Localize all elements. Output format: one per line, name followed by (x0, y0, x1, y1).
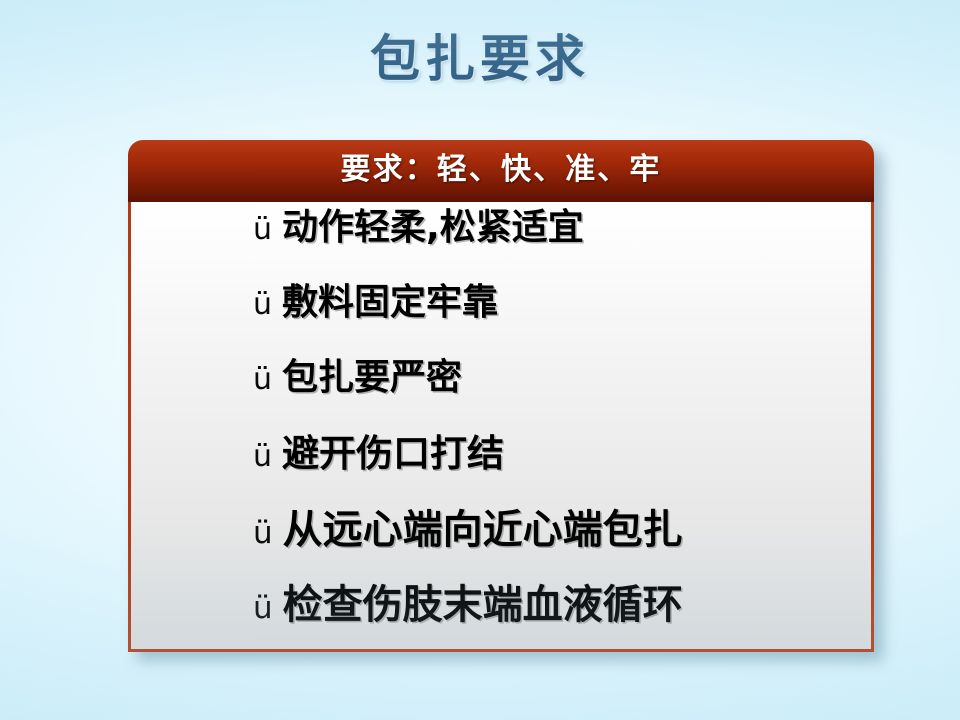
list-item-label: 包扎要严密 (282, 360, 462, 396)
page-title: 包扎要求 (0, 34, 960, 84)
checkmark-icon: ü (253, 442, 272, 472)
checkmark-icon: ü (253, 593, 273, 624)
card-banner-label: 要求：轻、快、准、牢 (341, 155, 662, 185)
card-banner: 要求：轻、快、准、牢 (128, 140, 874, 202)
list-item: ü 包扎要严密 (131, 360, 871, 435)
list-item: ü 避开伤口打结 (131, 435, 871, 510)
slide-background: 包扎要求 要求：轻、快、准、牢 ü 动作轻柔,松紧适宜 ü 敷料固定牢靠 ü 包… (0, 0, 960, 720)
list-item: ü 检查伤肢末端血液循环 (131, 585, 871, 660)
checkmark-icon: ü (253, 215, 272, 245)
list-item: ü 从远心端向近心端包扎 (131, 510, 871, 585)
checkmark-icon: ü (253, 518, 273, 549)
list-item-label: 动作轻柔,松紧适宜 (282, 210, 584, 246)
list-item-label: 检查伤肢末端血液循环 (283, 585, 683, 625)
checkmark-icon: ü (253, 365, 272, 395)
list-item-label: 敷料固定牢靠 (282, 285, 498, 321)
checkmark-icon: ü (253, 290, 272, 320)
card-body: ü 动作轻柔,松紧适宜 ü 敷料固定牢靠 ü 包扎要严密 ü 避开伤口打结 ü (128, 202, 874, 652)
list-item: ü 动作轻柔,松紧适宜 (131, 210, 871, 285)
list-item-label: 避开伤口打结 (282, 435, 504, 472)
list-item: ü 敷料固定牢靠 (131, 285, 871, 360)
requirements-card: 要求：轻、快、准、牢 ü 动作轻柔,松紧适宜 ü 敷料固定牢靠 ü 包扎要严密 … (128, 140, 874, 652)
requirements-list: ü 动作轻柔,松紧适宜 ü 敷料固定牢靠 ü 包扎要严密 ü 避开伤口打结 ü (131, 210, 871, 660)
list-item-label: 从远心端向近心端包扎 (283, 510, 683, 550)
